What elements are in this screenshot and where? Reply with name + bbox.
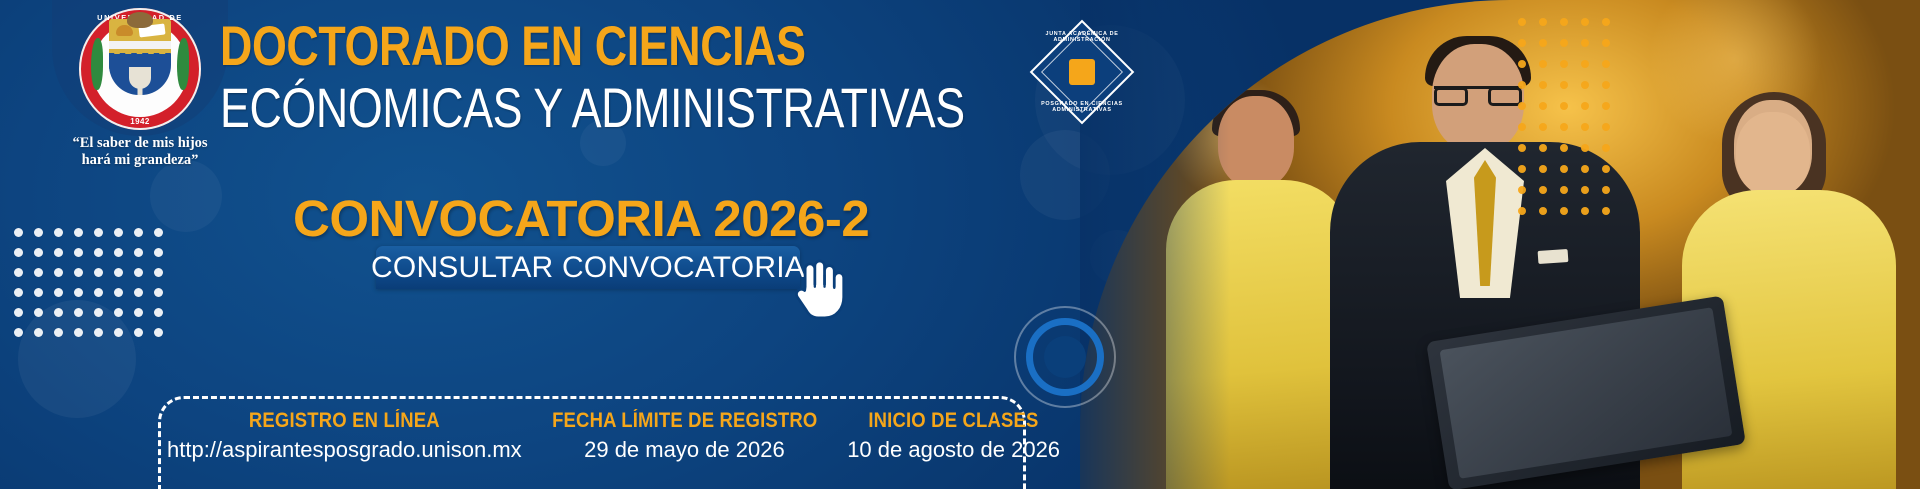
decor-dot bbox=[14, 268, 23, 277]
seal-leaf-right-icon bbox=[177, 38, 189, 90]
decor-dot bbox=[94, 268, 103, 277]
decor-dot bbox=[114, 328, 123, 337]
decor-dot bbox=[34, 328, 43, 337]
decor-dot bbox=[34, 248, 43, 257]
decor-dot bbox=[74, 248, 83, 257]
cta-button-label: CONSULTAR CONVOCATORIA bbox=[371, 251, 805, 285]
decor-dot bbox=[54, 248, 63, 257]
university-motto: “El saber de mis hijos hará mi grandeza” bbox=[52, 135, 228, 168]
decor-dot bbox=[114, 268, 123, 277]
decor-dot bbox=[154, 328, 163, 337]
decor-dot bbox=[134, 268, 143, 277]
decor-dot bbox=[14, 308, 23, 317]
decor-dot bbox=[114, 288, 123, 297]
info-value-registro-url[interactable]: http://aspirantesposgrado.unison.mx bbox=[167, 437, 522, 462]
person-pocket-square bbox=[1538, 249, 1569, 264]
badge-text-bottom: POSGRADO EN CIENCIAS ADMINISTRATIVAS bbox=[1028, 101, 1136, 113]
person-shirt bbox=[1166, 180, 1354, 489]
info-column-registro: REGISTRO EN LÍNEA http://aspirantesposgr… bbox=[161, 409, 528, 462]
decor-dot bbox=[114, 248, 123, 257]
info-value-inicio-clases: 10 de agosto de 2026 bbox=[847, 437, 1060, 462]
decor-dot bbox=[74, 268, 83, 277]
decor-dot bbox=[134, 248, 143, 257]
decor-dot bbox=[34, 308, 43, 317]
decor-dot bbox=[34, 288, 43, 297]
decor-dot bbox=[154, 228, 163, 237]
motto-line-1: “El saber de mis hijos bbox=[52, 135, 228, 152]
seal-stem bbox=[138, 85, 143, 95]
decor-dot bbox=[154, 288, 163, 297]
decor-dot bbox=[94, 228, 103, 237]
badge-text-top: JUNTA ACADÉMICA DE ADMINISTRACIÓN bbox=[1028, 31, 1136, 43]
photo-person-left bbox=[1162, 96, 1358, 489]
decor-dot-grid-left bbox=[14, 228, 163, 337]
decor-ring bbox=[1026, 318, 1104, 396]
unison-seal-icon: UNIVERSIDAD DE SONORA 1942 bbox=[79, 8, 201, 130]
announcement-headline: CONVOCATORIA 2026-2 bbox=[293, 189, 869, 248]
decor-dot bbox=[14, 288, 23, 297]
decor-dot bbox=[14, 328, 23, 337]
decor-dot bbox=[54, 308, 63, 317]
program-badge-logo: JUNTA ACADÉMICA DE ADMINISTRACIÓN POSGRA… bbox=[1028, 18, 1136, 126]
person-face bbox=[1736, 112, 1810, 196]
decor-dot bbox=[34, 228, 43, 237]
decor-dot bbox=[154, 248, 163, 257]
info-title-fecha-limite: FECHA LÍMITE DE REGISTRO bbox=[552, 409, 817, 432]
decor-ring-core bbox=[1044, 336, 1086, 378]
decor-dot bbox=[114, 308, 123, 317]
decor-dot bbox=[74, 308, 83, 317]
seal-owl-icon bbox=[127, 12, 153, 28]
decor-dot bbox=[94, 328, 103, 337]
decor-dot bbox=[54, 288, 63, 297]
decor-dot bbox=[74, 288, 83, 297]
seal-leaf-left-icon bbox=[91, 38, 103, 90]
decor-dot bbox=[154, 268, 163, 277]
convocatoria-banner: UNIVERSIDAD DE SONORA 1942 “El saber de … bbox=[0, 0, 1920, 489]
decor-dot bbox=[154, 308, 163, 317]
photo-rounded-mask bbox=[1080, 0, 1920, 489]
info-title-inicio-clases: INICIO DE CLASES bbox=[860, 409, 1047, 432]
decor-circle bbox=[18, 300, 136, 418]
motto-line-2: hará mi grandeza” bbox=[52, 152, 228, 169]
info-column-fecha-limite: FECHA LÍMITE DE REGISTRO 29 de mayo de 2… bbox=[528, 409, 842, 462]
glasses-icon bbox=[1434, 86, 1522, 103]
seal-motto-band bbox=[109, 41, 171, 49]
decor-dot bbox=[14, 248, 23, 257]
info-value-fecha-limite: 29 de mayo de 2026 bbox=[534, 437, 836, 462]
decor-dot bbox=[94, 288, 103, 297]
info-box: REGISTRO EN LÍNEA http://aspirantesposgr… bbox=[158, 396, 1026, 489]
badge-center-emblem-icon bbox=[1069, 59, 1095, 85]
program-title-line-1: DOCTORADO EN CIENCIAS bbox=[220, 18, 965, 74]
seal-year-text: 1942 bbox=[130, 117, 149, 126]
consultar-convocatoria-button[interactable]: CONSULTAR CONVOCATORIA bbox=[376, 246, 800, 289]
decor-dot bbox=[94, 248, 103, 257]
decor-dot bbox=[134, 288, 143, 297]
info-column-inicio-clases: INICIO DE CLASES 10 de agosto de 2026 bbox=[841, 409, 1066, 462]
university-seal-block: UNIVERSIDAD DE SONORA 1942 “El saber de … bbox=[52, 2, 228, 172]
decor-dot bbox=[134, 228, 143, 237]
decor-dot bbox=[114, 228, 123, 237]
decor-dot bbox=[134, 328, 143, 337]
decor-dot bbox=[54, 268, 63, 277]
program-title: DOCTORADO EN CIENCIAS ECÓNOMICAS Y ADMIN… bbox=[220, 18, 1151, 137]
decor-dot bbox=[54, 328, 63, 337]
students-photo bbox=[1080, 0, 1920, 489]
decor-dot bbox=[94, 308, 103, 317]
decor-dot bbox=[34, 268, 43, 277]
program-title-line-2: ECÓNOMICAS Y ADMINISTRATIVAS bbox=[220, 78, 965, 137]
decor-dot bbox=[134, 308, 143, 317]
info-title-registro: REGISTRO EN LÍNEA bbox=[188, 409, 500, 432]
seal-coat-of-arms-icon bbox=[109, 19, 171, 95]
decor-dot bbox=[14, 228, 23, 237]
decor-dot bbox=[54, 228, 63, 237]
decor-dot bbox=[74, 328, 83, 337]
person-head bbox=[1218, 96, 1294, 188]
decor-dot bbox=[74, 228, 83, 237]
